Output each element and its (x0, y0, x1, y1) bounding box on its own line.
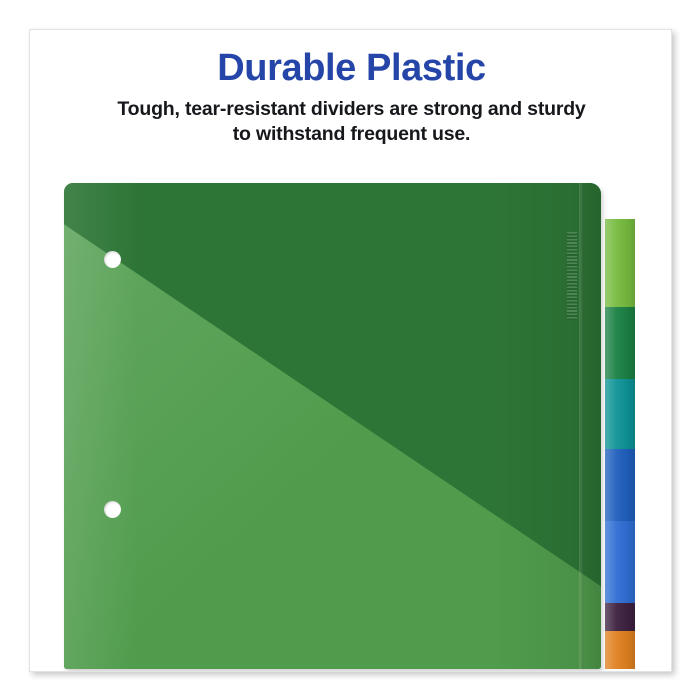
subtitle-line-1: Tough, tear-resistant dividers are stron… (117, 98, 585, 120)
tab-teal (605, 379, 635, 449)
tab-sheen (605, 449, 635, 521)
tab-orange (605, 631, 635, 669)
tab-reinforcement-ridges (567, 232, 577, 320)
top-binder-hole (104, 251, 121, 268)
plastic-divider-sheet (64, 183, 601, 669)
tab-purple (605, 603, 635, 631)
page-title: Durable Plastic (30, 48, 672, 89)
tab-green (605, 307, 635, 379)
bottom-binder-hole (104, 501, 121, 518)
tab-sheen (605, 379, 635, 449)
header: Durable Plastic Tough, tear-resistant di… (30, 48, 672, 147)
tab-sheen (605, 521, 635, 603)
subtitle: Tough, tear-resistant dividers are stron… (67, 97, 637, 147)
product-image-card: Durable Plastic Tough, tear-resistant di… (29, 29, 672, 672)
tab-light-blue (605, 521, 635, 603)
divider-tab-stack (605, 219, 635, 669)
screenshot-stage: Durable Plastic Tough, tear-resistant di… (0, 0, 700, 700)
tab-light-green (605, 219, 635, 307)
subtitle-line-2: to withstand frequent use. (233, 123, 470, 145)
divider-crease (579, 183, 584, 669)
tab-sheen (605, 219, 635, 307)
tab-sheen (605, 307, 635, 379)
tab-sheen (605, 631, 635, 669)
tab-sheen (605, 603, 635, 631)
tab-blue (605, 449, 635, 521)
